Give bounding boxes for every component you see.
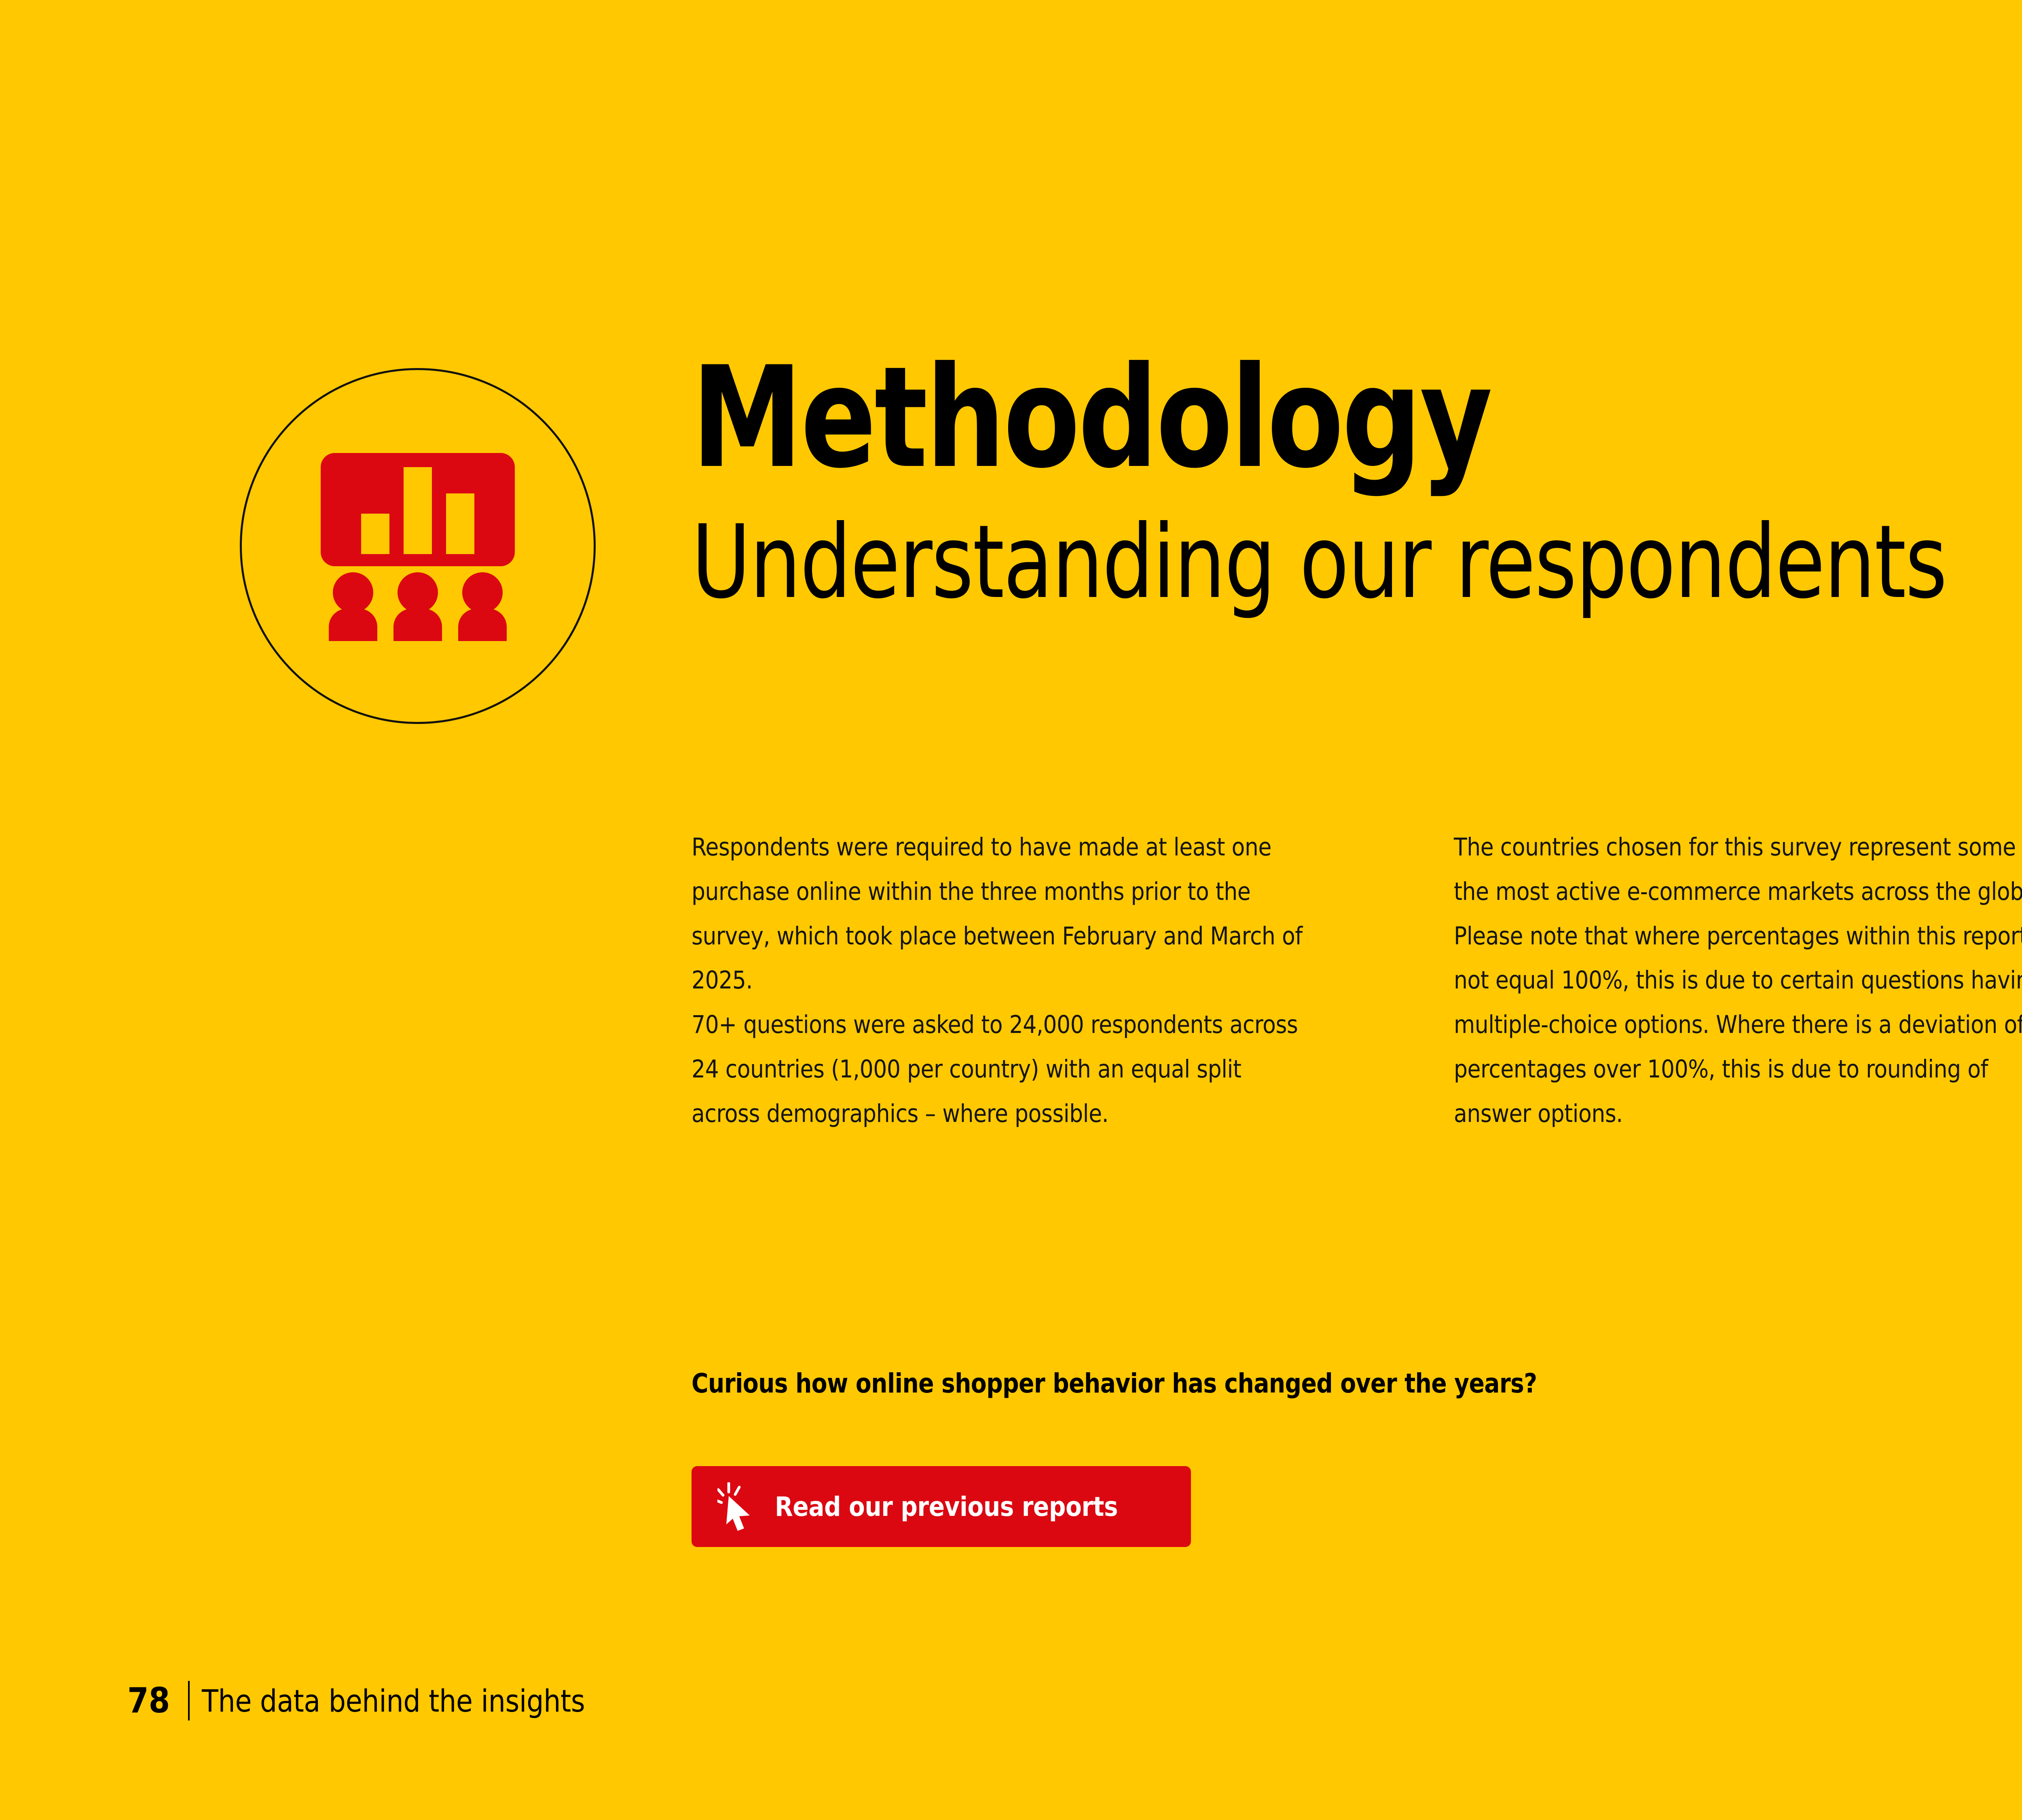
read-previous-reports-button[interactable]: Read our previous reports	[692, 1466, 1191, 1547]
page-subtitle: Understanding our respondents	[692, 512, 2022, 613]
cta-button-label: Read our previous reports	[775, 1491, 1118, 1522]
footer-divider	[188, 1681, 190, 1721]
body-columns: Respondents were required to have made a…	[692, 825, 2022, 1136]
cta-heading: Curious how online shopper behavior has …	[692, 1368, 1537, 1399]
presentation-chart-audience-icon	[317, 449, 519, 643]
footer-label: The data behind the insights	[202, 1683, 585, 1719]
page-title: Methodology	[692, 350, 2022, 487]
body-column-respondent-criteria: Respondents were required to have made a…	[692, 825, 1307, 1136]
section-badge	[240, 368, 596, 724]
heading-block: Methodology Understanding our respondent…	[692, 350, 2022, 613]
page-number: 78	[127, 1680, 170, 1721]
footer: 78 The data behind the insights	[127, 1680, 637, 1721]
body-column-country-selection: The countries chosen for this survey rep…	[1454, 825, 2022, 1136]
slide-page: Methodology Understanding our respondent…	[0, 0, 2022, 1820]
cursor-click-icon	[717, 1482, 756, 1531]
